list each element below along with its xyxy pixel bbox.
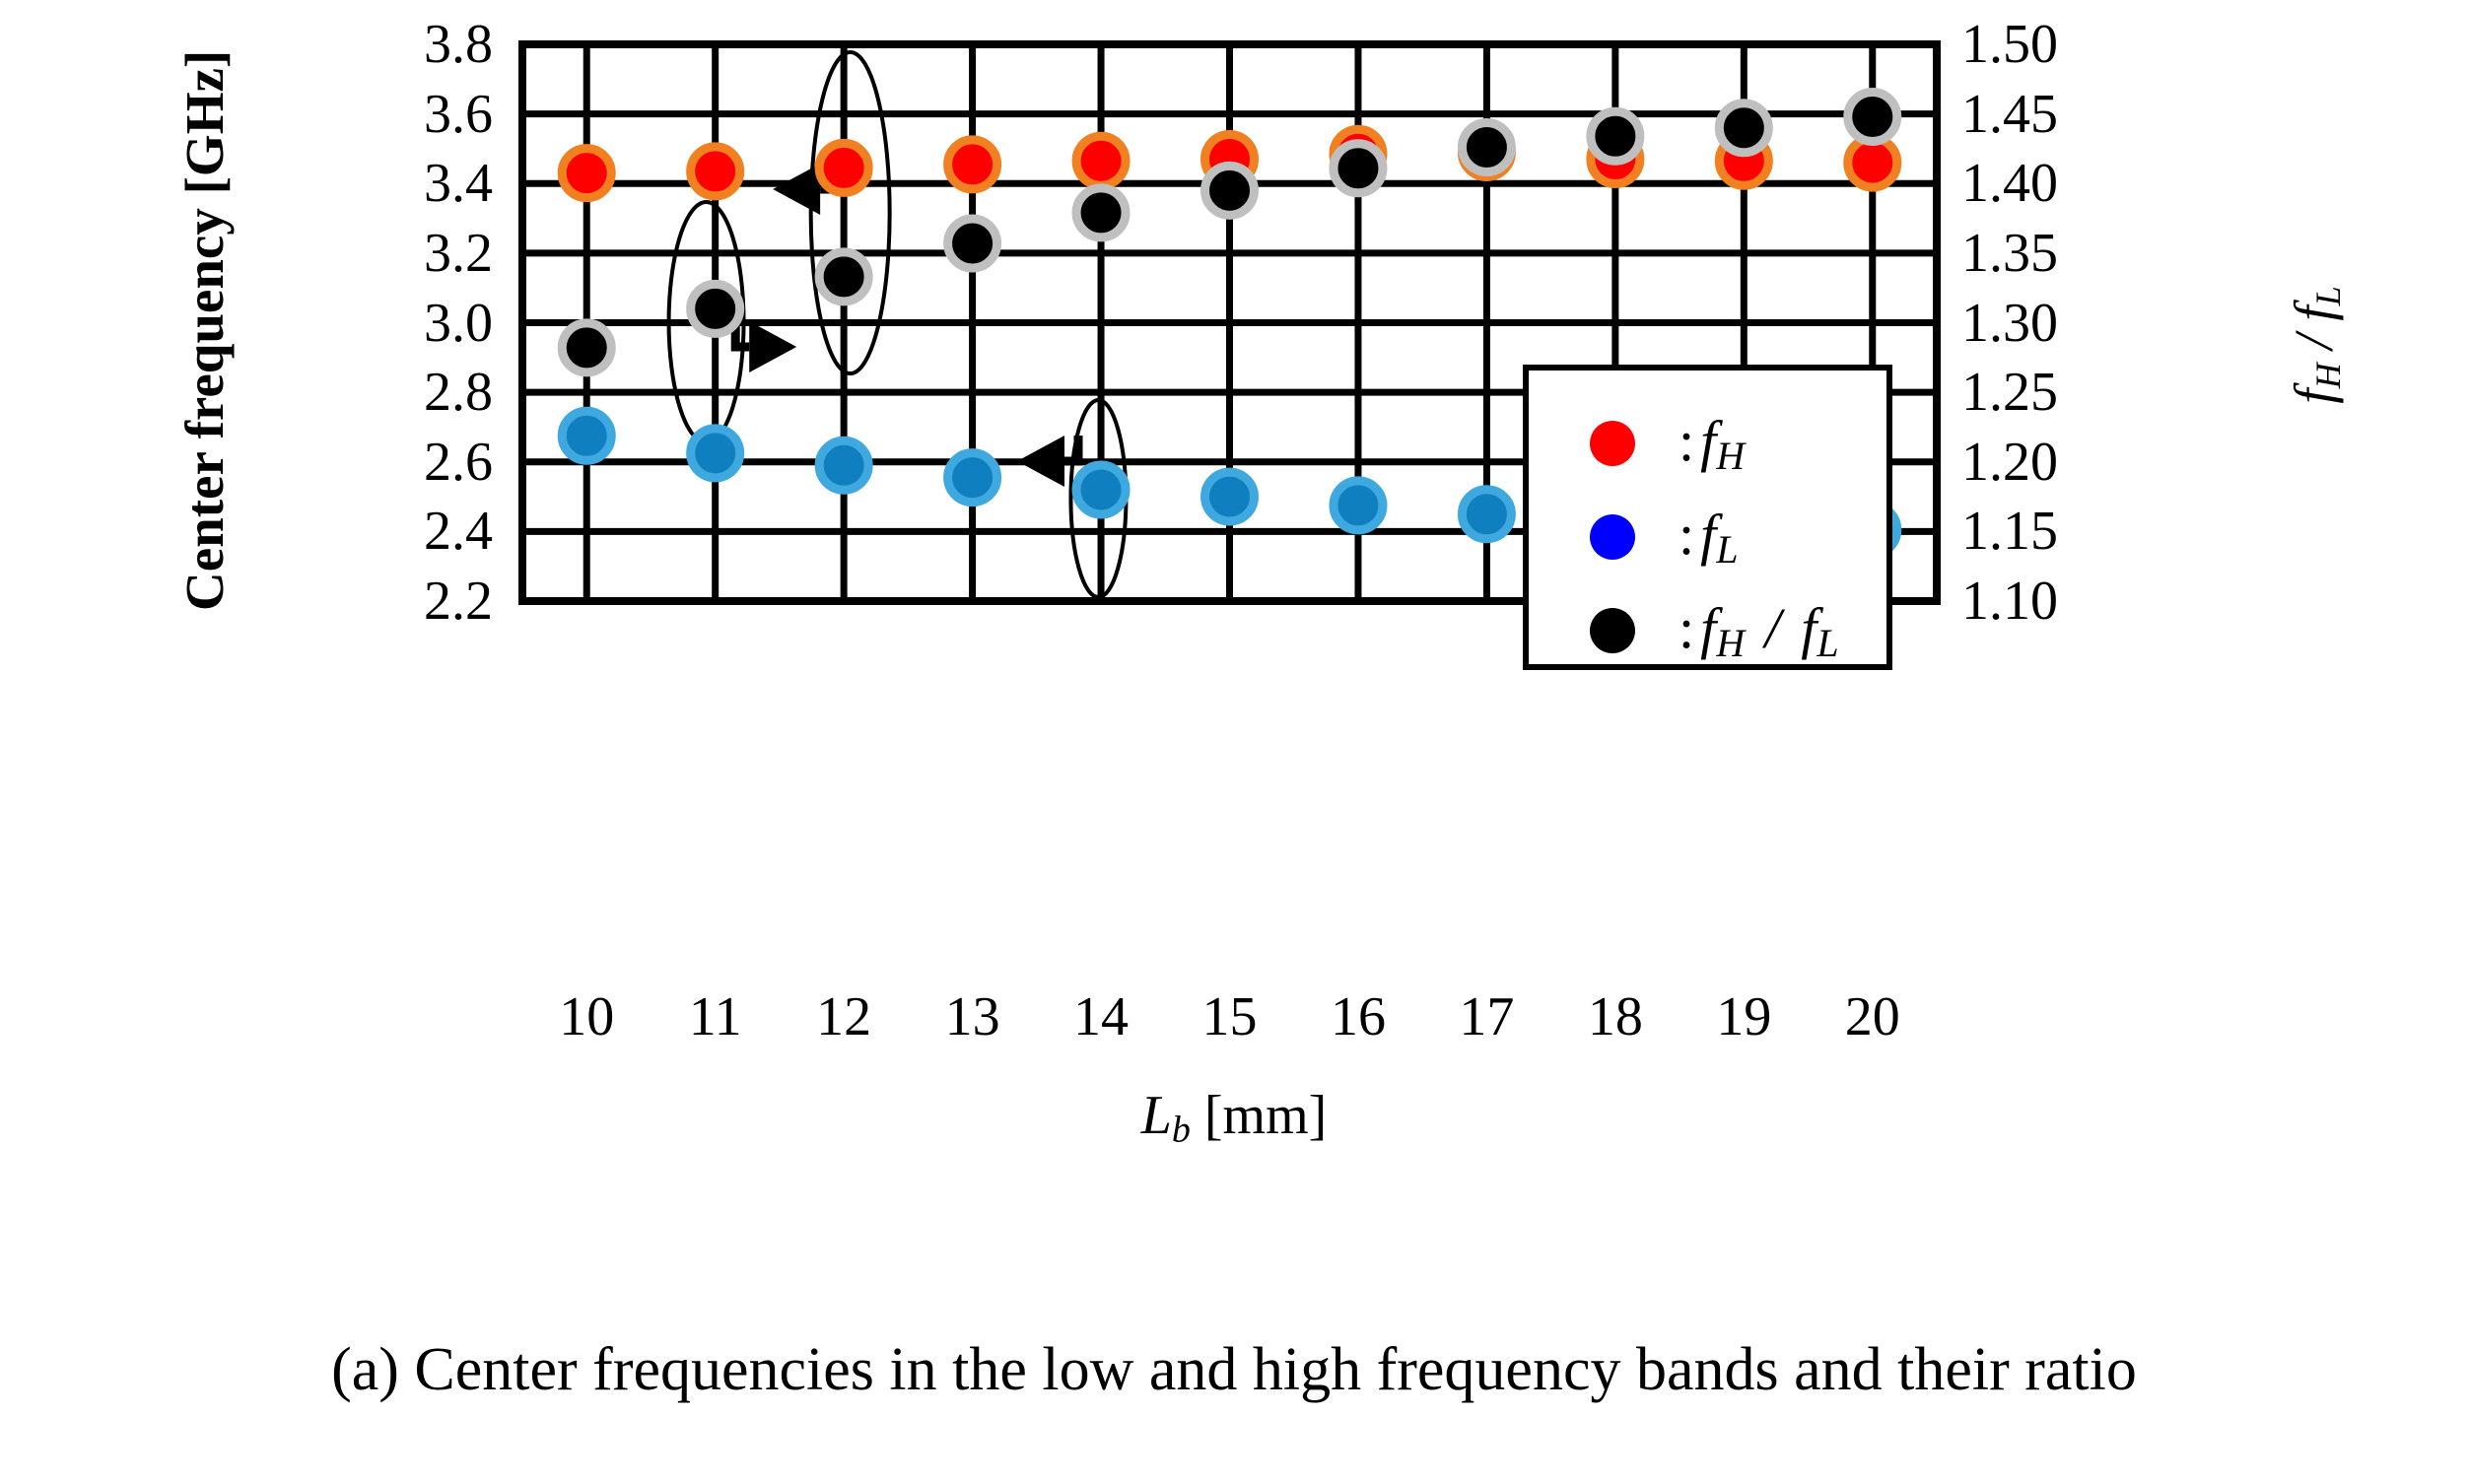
annotation-arrow-left-bottom: [1017, 436, 1078, 487]
data-point-f-h-f-l: [691, 284, 740, 333]
legend-label: :fH / fL: [1679, 595, 1839, 666]
x-axis-tick-label: 13: [914, 985, 1032, 1048]
y-axis-right-tick-label: 1.10: [1961, 570, 2178, 633]
y-axis-right-title-l: L: [2308, 286, 2348, 305]
y-axis-left-tick-label: 2.2: [286, 570, 493, 633]
data-point-f-h-f-l: [562, 323, 611, 372]
y-axis-right-tick-label: 1.25: [1961, 361, 2178, 424]
data-point-f-h: [819, 143, 868, 192]
data-point-f-h-f-l: [1591, 111, 1640, 161]
y-axis-right-tick-label: 1.20: [1961, 431, 2178, 494]
data-point-f-l: [1334, 481, 1383, 530]
x-axis-tick-label: 14: [1042, 985, 1160, 1048]
legend-item: :fH: [1590, 408, 1745, 479]
data-point-f-h-f-l: [819, 252, 868, 302]
data-point-f-h-f-l: [1719, 103, 1768, 153]
y-axis-left-tick-label: 3.6: [286, 83, 493, 146]
x-axis-tick-label: 16: [1299, 985, 1417, 1048]
y-axis-left-tick-label: 3.4: [286, 152, 493, 215]
legend-label: :fH: [1679, 408, 1745, 479]
legend-label: :fL: [1679, 502, 1739, 573]
y-axis-right-title-slash: /: [2284, 321, 2344, 364]
x-axis-tick-label: 20: [1814, 985, 1932, 1048]
y-axis-left-tick-label: 2.4: [286, 500, 493, 563]
y-axis-left-tick-label: 2.8: [286, 361, 493, 424]
y-axis-right-title-f: f: [2284, 388, 2344, 403]
y-axis-right-tick-label: 1.50: [1961, 13, 2178, 76]
legend-marker-icon: [1590, 421, 1635, 466]
data-point-f-h: [948, 140, 997, 189]
data-point-f-h: [562, 149, 611, 198]
x-axis-tick-label: 18: [1556, 985, 1675, 1048]
data-point-f-l: [948, 453, 997, 503]
y-axis-left-tick-label: 2.6: [286, 431, 493, 494]
y-axis-right-tick-label: 1.45: [1961, 83, 2178, 146]
x-axis-tick-label: 10: [527, 985, 646, 1048]
data-point-f-h-f-l: [1334, 144, 1383, 193]
y-axis-right-title: fH / fL: [2283, 207, 2342, 483]
y-axis-right-title-f2: f: [2284, 305, 2344, 320]
y-axis-right-tick-label: 1.30: [1961, 292, 2178, 355]
x-axis-tick-label: 15: [1171, 985, 1289, 1048]
data-point-f-h-f-l: [948, 219, 997, 268]
data-point-f-h-f-l: [1848, 92, 1897, 141]
y-axis-left-tick-label: 3.0: [286, 292, 493, 355]
legend-item: :fH / fL: [1590, 595, 1839, 666]
data-point-f-l: [691, 429, 740, 478]
legend-marker-icon: [1590, 514, 1635, 560]
x-axis-tick-label: 11: [656, 985, 775, 1048]
x-axis-title-l: L: [1141, 1085, 1172, 1146]
data-point-f-h: [1076, 136, 1126, 185]
y-axis-right-tick-label: 1.40: [1961, 152, 2178, 215]
x-axis-title-unit: [mm]: [1191, 1085, 1327, 1146]
chart-legend: :fH:fL:fH / fL: [1523, 365, 1892, 670]
data-point-f-l: [1076, 465, 1126, 514]
data-point-f-h-f-l: [1076, 188, 1126, 237]
x-axis-title-b: b: [1172, 1109, 1191, 1150]
legend-marker-icon: [1590, 608, 1635, 653]
x-axis-tick-label: 19: [1684, 985, 1803, 1048]
y-axis-left-title: Center frequency [GHz]: [173, 59, 233, 611]
figure-caption: (a) Center frequencies in the low and hi…: [0, 1335, 2468, 1405]
y-axis-left-tick-label: 3.8: [286, 13, 493, 76]
x-axis-tick-label: 12: [785, 985, 903, 1048]
y-axis-right-tick-label: 1.35: [1961, 222, 2178, 285]
figure-panel: Center frequency [GHz] fH / fL 2.22.42.6…: [0, 0, 2468, 1484]
y-axis-right-title-h: H: [2308, 363, 2348, 388]
y-axis-left-tick-label: 3.2: [286, 222, 493, 285]
data-point-f-h-f-l: [1205, 166, 1255, 215]
data-point-f-l: [1462, 490, 1511, 539]
data-point-f-l: [819, 440, 868, 490]
x-axis-tick-label: 17: [1427, 985, 1545, 1048]
legend-item: :fL: [1590, 502, 1739, 573]
x-axis-title: Lb [mm]: [0, 1084, 2468, 1151]
y-axis-right-tick-label: 1.15: [1961, 500, 2178, 563]
data-point-f-h-f-l: [1462, 123, 1511, 172]
data-point-f-l: [1205, 472, 1255, 521]
data-point-f-h: [691, 147, 740, 196]
data-point-f-l: [562, 411, 611, 460]
